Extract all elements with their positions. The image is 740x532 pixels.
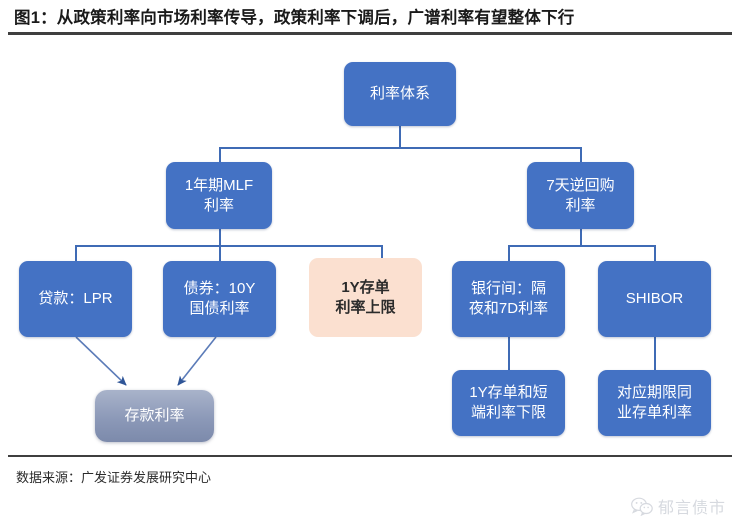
arrow-lpr-to-deposit <box>76 337 126 385</box>
node-matching-tenor-cd-rate[interactable]: 对应期限同 业存单利率 <box>598 370 711 436</box>
wechat-icon <box>631 497 653 516</box>
connector-root-down <box>399 126 401 148</box>
figure-source: 数据来源：广发证券发展研究中心 <box>16 467 211 486</box>
figure-title: 图1：从政策利率向市场利率传导，政策利率下调后，广谱利率有望整体下行 <box>14 8 726 28</box>
connector-repo-bus <box>509 245 655 247</box>
node-1y-cd-rate-cap[interactable]: 1Y存单 利率上限 <box>309 258 422 337</box>
connector-mlf-bus-to-bond <box>219 245 221 261</box>
node-bond-10y-treasury[interactable]: 债券：10Y 国债利率 <box>163 261 276 337</box>
connector-level2-bus <box>220 147 581 149</box>
connector-mlf-down <box>219 229 221 246</box>
connector-bus-to-reverse-repo <box>580 147 582 162</box>
connector-repo-down <box>580 229 582 246</box>
node-loan-lpr[interactable]: 贷款：LPR <box>19 261 132 337</box>
node-interest-rate-system[interactable]: 利率体系 <box>344 62 456 126</box>
node-interbank-overnight-7d[interactable]: 银行间：隔 夜和7D利率 <box>452 261 565 337</box>
node-shibor[interactable]: SHIBOR <box>598 261 711 337</box>
title-divider <box>8 32 732 35</box>
connector-mlf-bus-to-lpr <box>75 245 77 261</box>
connector-interbank-to-cd-floor <box>508 337 510 370</box>
watermark-text: 郁言债市 <box>658 494 726 518</box>
watermark: 郁言债市 <box>631 494 726 518</box>
connector-shibor-to-cd-rate <box>654 337 656 370</box>
node-reverse-repo-rate[interactable]: 7天逆回购 利率 <box>527 162 634 229</box>
arrow-bond-to-deposit <box>178 337 216 385</box>
connector-repo-bus-to-shibor <box>654 245 656 261</box>
node-deposit-rate[interactable]: 存款利率 <box>95 390 214 442</box>
footer-divider <box>8 455 732 457</box>
node-mlf-rate[interactable]: 1年期MLF 利率 <box>166 162 272 229</box>
connector-mlf-bus <box>76 245 382 247</box>
figure-container: 图1：从政策利率向市场利率传导，政策利率下调后，广谱利率有望整体下行 利率体系 … <box>0 0 740 532</box>
node-1y-cd-short-end-floor[interactable]: 1Y存单和短 端利率下限 <box>452 370 565 436</box>
connector-bus-to-mlf <box>219 147 221 162</box>
connector-repo-bus-to-interbank <box>508 245 510 261</box>
